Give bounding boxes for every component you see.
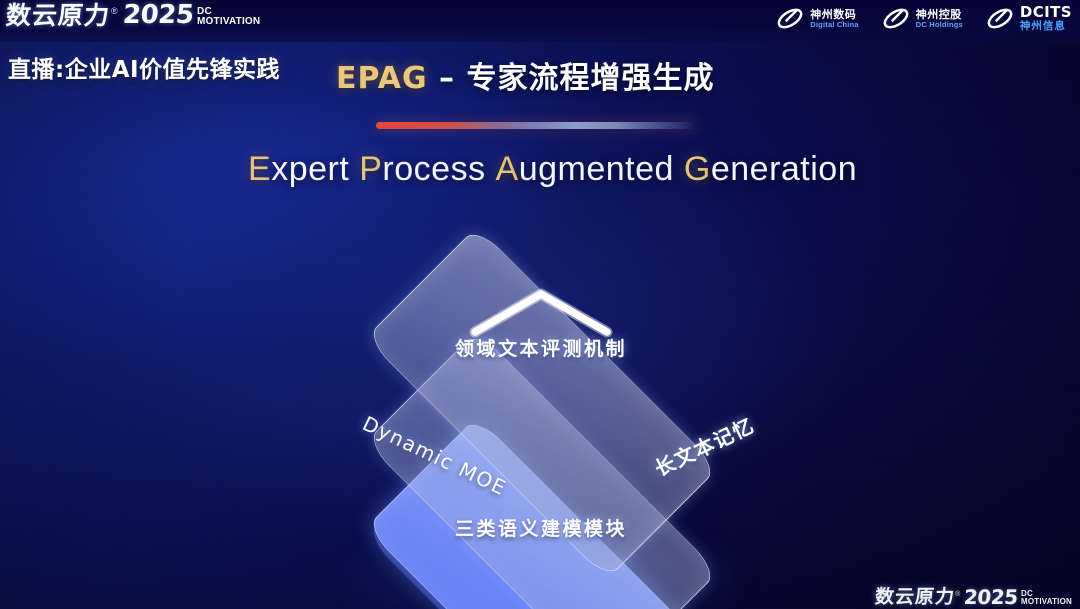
subtitle-space-2 — [486, 150, 496, 188]
brand-year: 2025 — [122, 2, 195, 28]
chevron-up-icon — [461, 282, 621, 342]
subtitle-word-augmented: ugmented — [519, 150, 674, 188]
swoosh-icon — [775, 5, 805, 32]
subtitle-initial-e: E — [248, 150, 271, 188]
brand-name-cn: 数云原力 — [5, 3, 111, 28]
isometric-layer-diagram: 领域文本评测机制 Dynamic MOE 长文本记忆 三类语义建模模块 — [286, 222, 796, 592]
partner-name-cn: 神州信息 — [1020, 20, 1072, 33]
partner-name-cn: 神州数码 — [810, 9, 858, 21]
partner-name-en: DCITS — [1020, 5, 1072, 20]
partner-logo-dcits: DCITS 神州信息 — [985, 5, 1072, 33]
subtitle-initial-g: G — [684, 150, 711, 188]
partner-name-en: DC Holdings — [916, 21, 963, 29]
watermark-registered-mark: ® — [955, 591, 960, 598]
subtitle-initial-p: P — [359, 150, 382, 188]
subtitle-word-expert: xpert — [271, 150, 349, 188]
subtitle-word-generation: eneration — [711, 150, 857, 188]
footer-watermark-logo: 数云原力 ® 2025 DC MOTIVATION — [875, 587, 1072, 607]
layer-bottom-label: 三类语义建模模块 — [286, 514, 796, 541]
partner-text-dc-holdings: 神州控股 DC Holdings — [916, 9, 963, 29]
brand-motivation-label: MOTIVATION — [197, 17, 260, 27]
brand-logo: 数云原力 ® 2025 DC MOTIVATION — [6, 2, 260, 28]
title-divider — [376, 122, 696, 129]
watermark-name-cn: 数云原力 — [874, 588, 956, 607]
layer-top-label: 领域文本评测机制 — [286, 334, 796, 361]
partner-name-en: Digital China — [810, 21, 858, 29]
partner-name-cn: 神州控股 — [916, 9, 963, 21]
subtitle-initial-a: A — [496, 150, 519, 188]
subtitle-space-1 — [349, 150, 359, 188]
watermark-year: 2025 — [963, 587, 1018, 607]
partner-logo-dc-holdings: 神州控股 DC Holdings — [881, 5, 963, 32]
title-dash: – — [428, 61, 467, 96]
partner-logo-digital-china: 神州数码 Digital China — [775, 5, 858, 32]
swoosh-icon — [985, 5, 1015, 32]
registered-mark: ® — [111, 6, 118, 16]
title-acronym: EPAG — [336, 61, 428, 96]
partner-text-dcits: DCITS 神州信息 — [1020, 5, 1072, 33]
subtitle-word-process: rocess — [382, 150, 485, 188]
partner-text-digital-china: 神州数码 Digital China — [810, 9, 858, 29]
subtitle-space-3 — [674, 150, 684, 188]
partner-logo-group: 神州数码 Digital China 神州控股 DC Holdings — [775, 5, 1072, 33]
live-stream-title: 直播:企业AI价值先锋实践 — [8, 50, 280, 84]
slide-title: EPAG – 专家流程增强生成 — [336, 53, 714, 97]
watermark-dc-motivation: DC MOTIVATION — [1021, 590, 1072, 607]
title-chinese: 专家流程增强生成 — [466, 61, 714, 96]
slide-subtitle: Expert Process Augmented Generation — [248, 150, 857, 189]
brand-dc-motivation: DC MOTIVATION — [197, 7, 260, 28]
presentation-slide: 数云原力 ® 2025 DC MOTIVATION 直播:企业AI价值先锋实践 … — [0, 0, 1080, 609]
swoosh-icon — [881, 5, 911, 32]
watermark-motivation-label: MOTIVATION — [1021, 598, 1072, 606]
